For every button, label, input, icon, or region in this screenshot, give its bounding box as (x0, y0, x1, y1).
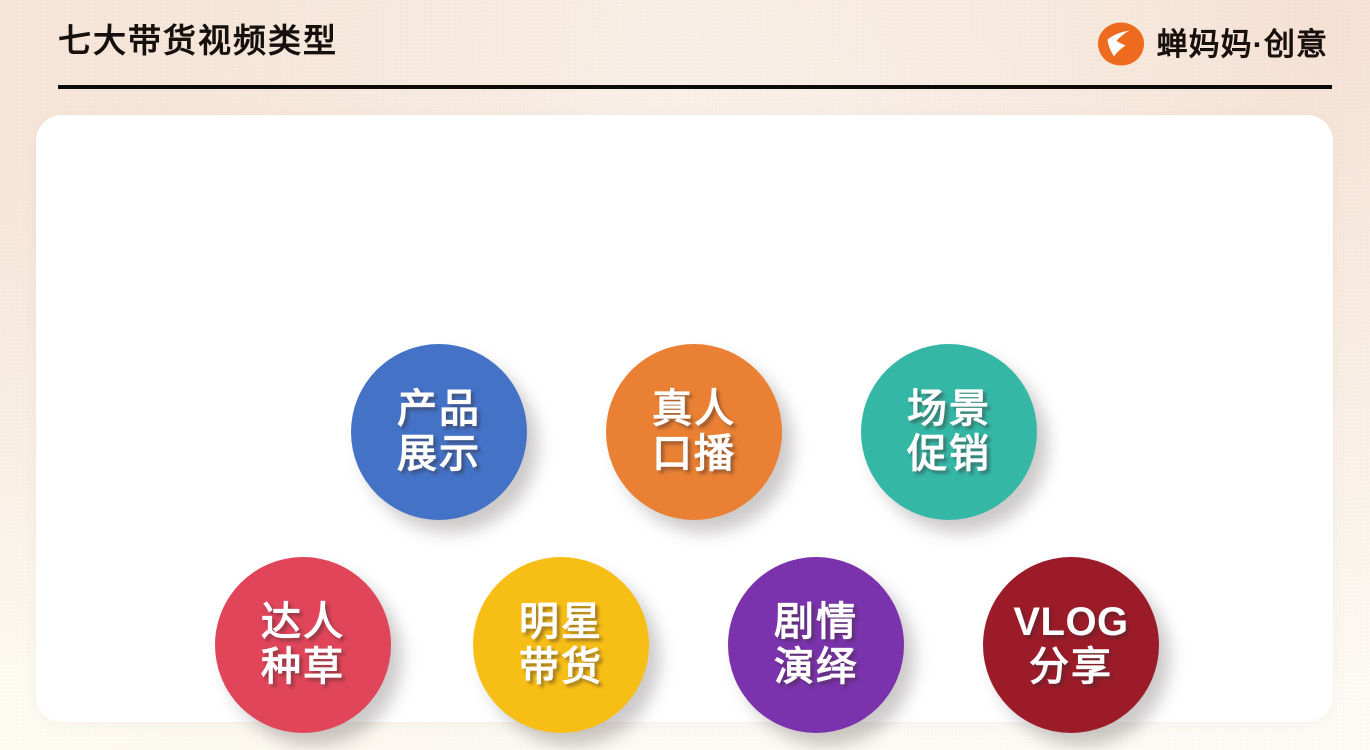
bubble-label-line2: 展示 (397, 432, 481, 477)
bubble-scene-promotion[interactable]: 场景 促销 (861, 344, 1037, 520)
bubble-label-line1: VLOG (1013, 600, 1128, 645)
bubble-product-display[interactable]: 产品 展示 (351, 344, 527, 520)
bubble-label-line2: 促销 (907, 432, 991, 477)
bubble-label-line2: 演绎 (774, 645, 858, 690)
video-type-bubble-group: 产品 展示 真人 口播 场景 促销 达人 种草 明星 带货 剧情 演绎 (36, 115, 1333, 722)
bubble-label-line2: 分享 (1029, 645, 1113, 690)
bubble-real-person-talk[interactable]: 真人 口播 (606, 344, 782, 520)
bubble-label-line2: 口播 (652, 432, 736, 477)
bubble-label-line1: 产品 (397, 387, 481, 432)
bubble-label-line1: 剧情 (774, 600, 858, 645)
brand-logo-text: 蝉妈妈·创意 (1157, 29, 1328, 60)
bubble-label-line2: 种草 (261, 645, 345, 690)
bubble-label-line1: 真人 (652, 387, 736, 432)
bubble-label-line1: 达人 (261, 600, 345, 645)
content-card: 产品 展示 真人 口播 场景 促销 达人 种草 明星 带货 剧情 演绎 (36, 115, 1333, 722)
page-title: 七大带货视频类型 (58, 23, 338, 59)
slide-header: 七大带货视频类型 蝉妈妈·创意 (0, 0, 1370, 92)
title-divider (58, 85, 1332, 89)
bubble-influencer-seeding[interactable]: 达人 种草 (215, 557, 391, 733)
slide-root: 七大带货视频类型 蝉妈妈·创意 产品 展示 真人 口播 (0, 0, 1370, 750)
bubble-label-line2: 带货 (519, 645, 603, 690)
chanmama-logo-icon (1095, 20, 1147, 68)
bubble-celebrity-selling[interactable]: 明星 带货 (473, 557, 649, 733)
bubble-vlog-sharing[interactable]: VLOG 分享 (983, 557, 1159, 733)
bubble-story-drama[interactable]: 剧情 演绎 (728, 557, 904, 733)
bubble-label-line1: 场景 (907, 387, 991, 432)
brand-logo: 蝉妈妈·创意 (1095, 18, 1328, 70)
bubble-label-line1: 明星 (519, 600, 603, 645)
